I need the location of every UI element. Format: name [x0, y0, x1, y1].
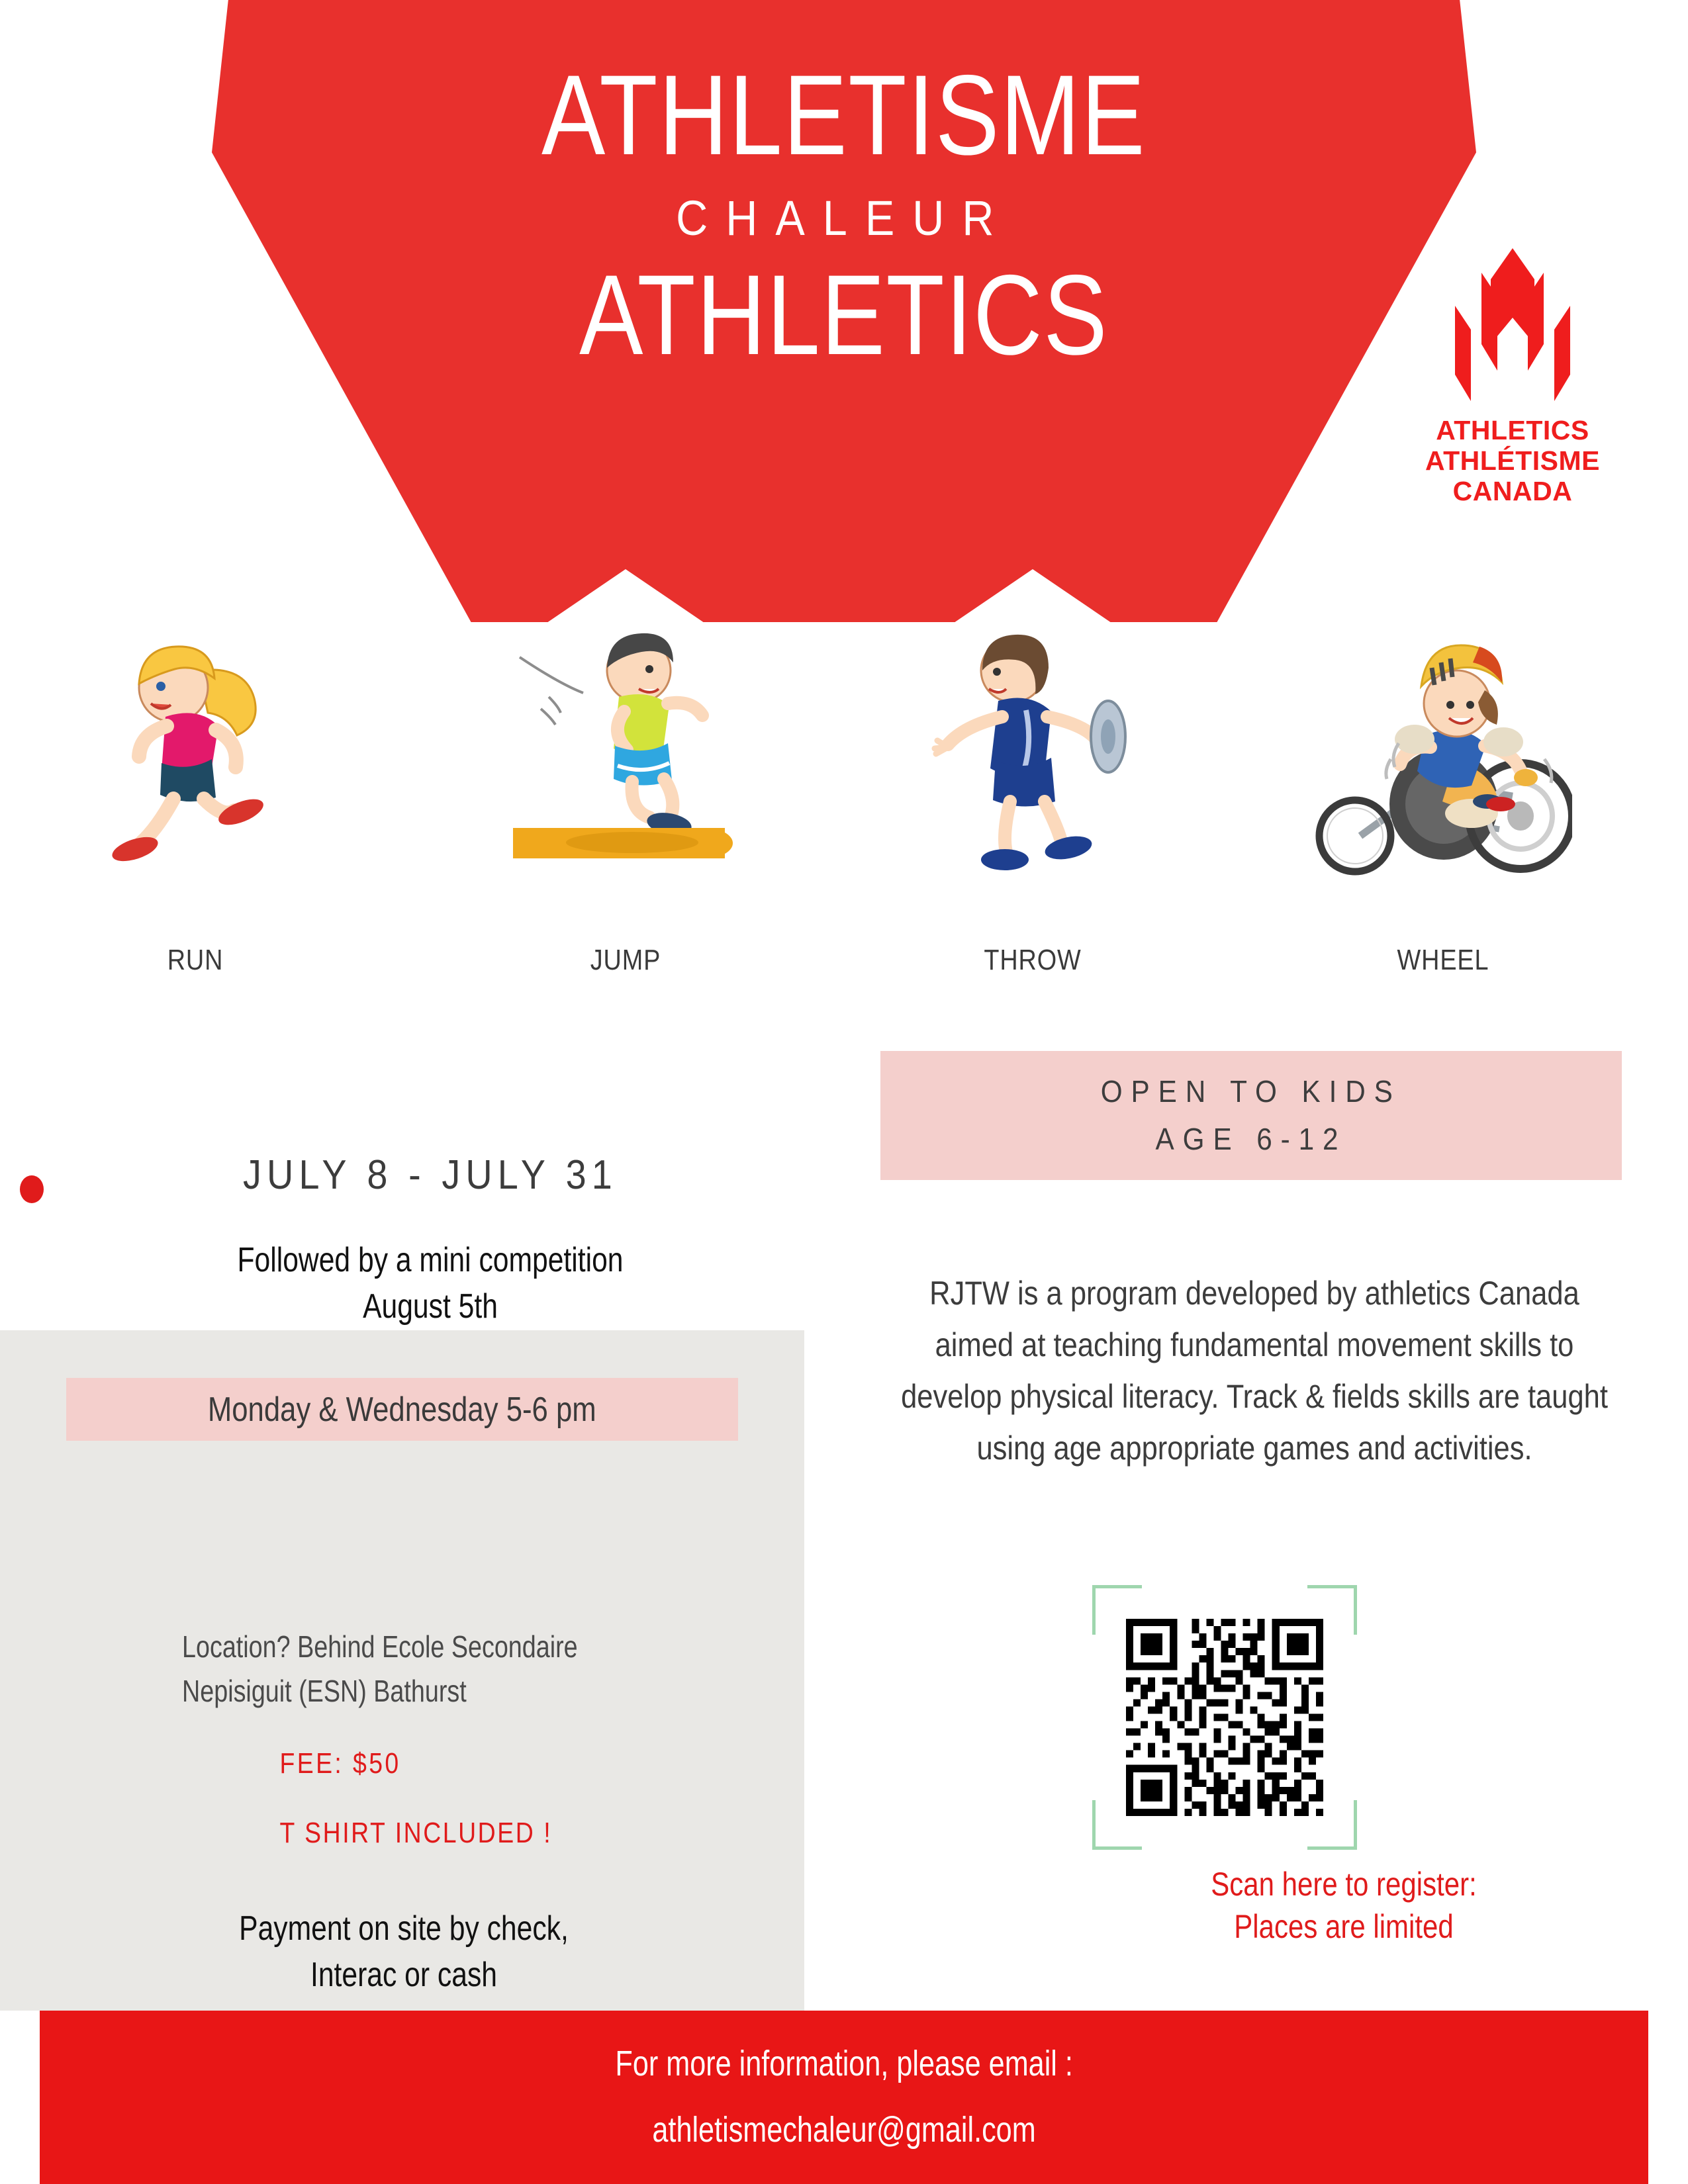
location-block: Location? Behind Ecole Secondaire Nepisi…: [182, 1625, 681, 1713]
logo-line-2: ATHLÉTISME: [1417, 446, 1609, 477]
open-to-kids-line2: AGE 6-12: [1156, 1116, 1347, 1163]
qr-caption-line2: Places are limited: [1066, 1905, 1622, 1948]
registration-qr-block[interactable]: [1092, 1585, 1357, 1850]
racing-wheelchair-kid-illustration: [1311, 569, 1575, 930]
program-description: RJTW is a program developed by athletics…: [900, 1267, 1609, 1474]
discipline-hex-jump: JUMP: [424, 569, 827, 940]
athletics-canada-logo: ATHLETICS ATHLÉTISME CANADA: [1417, 245, 1609, 523]
discipline-hexagon-row: RUN: [0, 569, 1688, 1006]
maple-leaf-chevron-icon: [1417, 245, 1609, 410]
schedule-text: Monday & Wednesday 5-6 pm: [208, 1390, 596, 1430]
discipline-label-run: RUN: [22, 944, 369, 977]
discipline-label-wheel: WHEEL: [1270, 944, 1617, 977]
location-line1: Location? Behind Ecole Secondaire: [182, 1625, 681, 1669]
schedule-banner: Monday & Wednesday 5-6 pm: [66, 1378, 738, 1441]
mini-competition-line2: August 5th: [132, 1284, 729, 1330]
qr-caption-line1: Scan here to register:: [1066, 1863, 1622, 1905]
logo-text: ATHLETICS ATHLÉTISME CANADA: [1417, 416, 1609, 507]
payment-block: Payment on site by check, Interac or cas…: [127, 1906, 680, 1998]
bullet-dot-icon: [20, 1175, 44, 1203]
program-dates: JULY 8 - JULY 31: [132, 1152, 728, 1199]
discipline-hex-run: RUN: [0, 569, 397, 940]
poster-canvas: ATHLETISME CHALEUR ATHLETICS ATHLETICS A…: [0, 0, 1688, 2184]
footer-line1: For more information, please email :: [615, 2031, 1072, 2097]
fee-text: FEE: $50: [280, 1747, 674, 1780]
discus-thrower-boy-illustration: [900, 569, 1165, 930]
long-jump-boy-illustration: [493, 569, 758, 930]
logo-line-3: CANADA: [1417, 477, 1609, 507]
running-girl-illustration: [63, 569, 328, 930]
qr-caption: Scan here to register: Places are limite…: [1066, 1863, 1622, 1948]
discipline-hex-wheel: WHEEL: [1241, 569, 1645, 940]
location-line2: Nepisiguit (ESN) Bathurst: [182, 1669, 681, 1713]
payment-line1: Payment on site by check,: [127, 1906, 680, 1952]
discipline-label-jump: JUMP: [452, 944, 800, 977]
footer-email[interactable]: athletismechaleur@gmail.com: [652, 2097, 1035, 2163]
qr-code-icon[interactable]: [1119, 1612, 1331, 1823]
contact-footer: For more information, please email : ath…: [40, 2011, 1648, 2184]
discipline-label-throw: THROW: [859, 944, 1207, 977]
open-to-kids-banner: OPEN TO KIDS AGE 6-12: [880, 1051, 1622, 1180]
payment-line2: Interac or cash: [127, 1952, 680, 1999]
logo-line-1: ATHLETICS: [1417, 416, 1609, 446]
tshirt-included-text: T SHIRT INCLUDED !: [280, 1817, 674, 1850]
open-to-kids-line1: OPEN TO KIDS: [1101, 1068, 1401, 1115]
mini-competition-note: Followed by a mini competition August 5t…: [132, 1238, 729, 1330]
mini-competition-line1: Followed by a mini competition: [132, 1238, 729, 1284]
header-hexagon-banner: [212, 0, 1476, 622]
discipline-hex-throw: THROW: [831, 569, 1235, 940]
